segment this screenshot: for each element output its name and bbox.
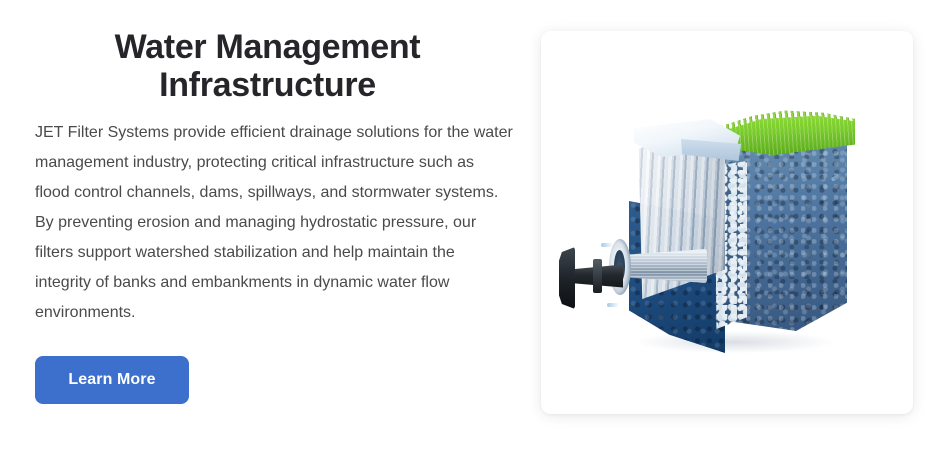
section-description: JET Filter Systems provide efficient dra… xyxy=(35,118,513,328)
water-flow-arrow-icon xyxy=(607,303,619,307)
ground-shadow xyxy=(637,331,833,353)
product-image-card[interactable] xyxy=(541,31,913,414)
pipe-flange-icon xyxy=(559,247,575,309)
pipe-collar-icon xyxy=(593,259,602,293)
page-title: Water Management Infrastructure xyxy=(35,28,500,104)
learn-more-button[interactable]: Learn More xyxy=(35,356,189,404)
jet-filter-cutaway-illustration xyxy=(541,31,913,414)
water-management-section: Water Management Infrastructure JET Filt… xyxy=(0,0,946,455)
cta-container: Learn More xyxy=(35,356,515,404)
text-column: Water Management Infrastructure JET Filt… xyxy=(35,28,515,404)
water-flow-arrow-icon xyxy=(601,243,613,247)
render-stage xyxy=(541,31,913,414)
